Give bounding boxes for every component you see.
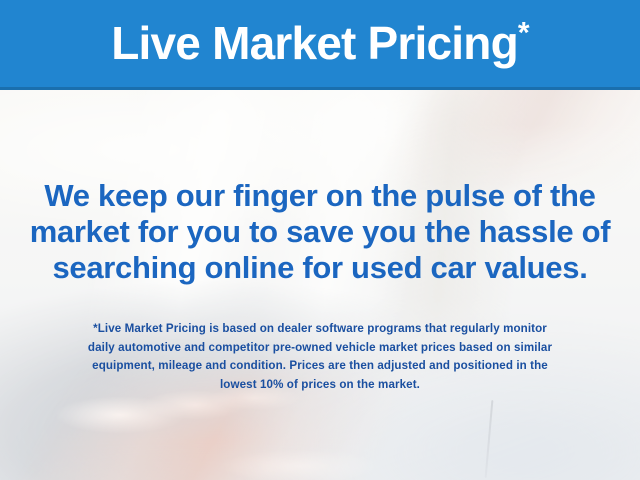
live-market-pricing-slide: Live Market Pricing* We keep our finger … [0, 0, 640, 480]
page-title-text: Live Market Pricing [111, 17, 518, 69]
disclaimer-line-2: daily automotive and competitor pre-owne… [0, 339, 640, 358]
disclaimer-line-4: lowest 10% of prices on the market. [0, 376, 640, 395]
header-banner: Live Market Pricing* [0, 0, 640, 90]
page-title-asterisk: * [518, 16, 529, 49]
page-title: Live Market Pricing* [111, 20, 529, 68]
disclaimer-line-3: equipment, mileage and condition. Prices… [0, 357, 640, 376]
headline-line-3: searching online for used car values. [0, 250, 640, 286]
headline-line-1: We keep our finger on the pulse of the [0, 178, 640, 214]
headline-line-2: market for you to save you the hassle of [0, 214, 640, 250]
disclaimer-block: *Live Market Pricing is based on dealer … [0, 320, 640, 394]
disclaimer-line-1: *Live Market Pricing is based on dealer … [0, 320, 640, 339]
headline-block: We keep our finger on the pulse of the m… [0, 178, 640, 286]
